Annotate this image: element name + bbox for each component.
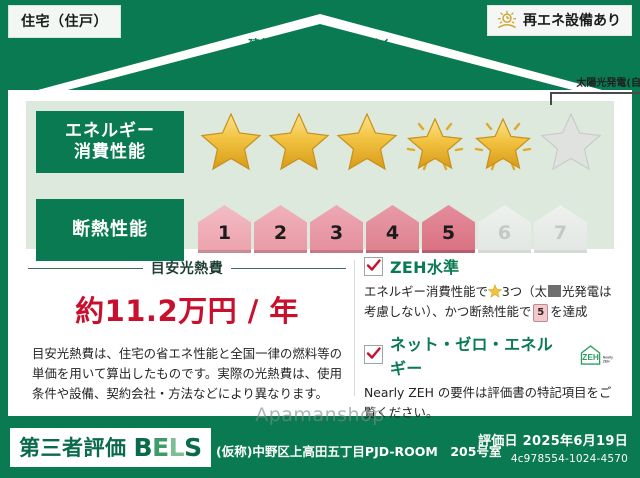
insulation-step-number: 1 — [218, 224, 231, 253]
net-zero-block: ネット・ゼロ・エネルギー ZEH Nearly ZEH Nearly ZEH の… — [364, 331, 614, 423]
energy-rating-row: エネルギー 消費性能 太陽光発電(自家消費)分 — [26, 111, 614, 173]
svg-text:ZEH: ZEH — [603, 359, 610, 363]
insulation-step: 1 — [198, 205, 251, 253]
net-zero-title: ネット・ゼロ・エネルギー — [390, 331, 568, 379]
insulation-rating-row: 断熱性能 1 2 3 4 — [26, 199, 614, 261]
insulation-scale: 1 2 3 4 5 — [198, 205, 587, 253]
evaluation-number: 4c978554-1024-4570 — [478, 453, 628, 465]
star-icon — [266, 109, 332, 173]
zeh-panel: ZEH水準 エネルギー消費性能で3つ（太光発電は考慮しない）、かつ断熱性能で5を… — [364, 254, 614, 402]
renewable-chip-label: 再エネ設備あり — [523, 10, 621, 30]
insulation-step-number: 7 — [554, 224, 567, 253]
zeh-standard-body: エネルギー消費性能で3つ（太光発電は考慮しない）、かつ断熱性能で5を達成 — [364, 282, 614, 322]
checkmark-icon — [364, 257, 383, 276]
bels-logo-en: BELS — [134, 433, 202, 462]
insulation-step-current: 5 — [422, 205, 475, 253]
star-icon-empty — [538, 109, 604, 173]
bels-logo-jp: 第三者評価 — [19, 432, 127, 462]
rule-right — [231, 268, 346, 269]
star-rating: 太陽光発電(自家消費)分 — [198, 109, 604, 173]
insulation-step-number: 6 — [498, 224, 511, 253]
rule-left — [28, 268, 143, 269]
star-icon-inline — [488, 284, 502, 298]
insulation-rating-label: 断熱性能 — [36, 199, 184, 261]
insulation-step-number: 3 — [330, 224, 343, 253]
utility-cost-heading-label: 目安光熱費 — [151, 258, 224, 278]
zeh-standard-heading: ZEH水準 — [364, 254, 614, 278]
svg-text:ZEH: ZEH — [583, 353, 600, 362]
star-icon-solar — [402, 109, 468, 173]
energy-rating-label: エネルギー 消費性能 — [36, 111, 184, 173]
renewable-equipment-chip: 再エネ設備あり — [487, 5, 632, 36]
evaluation-date: 評価日 2025年6月19日 — [478, 430, 628, 449]
category-chip: 住宅（住戸） — [8, 5, 121, 38]
utility-cost-note: 目安光熱費は、住宅の省エネ性能と全国一律の燃料等の単価を用いて算出したものです。… — [28, 344, 346, 404]
panel-divider — [354, 260, 355, 396]
zeh-body-text-1: エネルギー消費性能で — [364, 284, 488, 299]
star-icon — [198, 109, 264, 173]
insulation-step: 2 — [254, 205, 307, 253]
zeh-house-logo-icon: ZEH Nearly ZEH — [579, 343, 614, 367]
property-address: (仮称)中野区上高田五丁目PJD-ROOM 205号室 — [216, 441, 501, 460]
bels-logo: 第三者評価 BELS — [10, 428, 211, 467]
zeh-body-text-4: を達成 — [550, 304, 587, 319]
insulation-step-number: 4 — [386, 224, 399, 253]
energy-label-line1: エネルギー — [65, 121, 155, 142]
redaction-block — [548, 285, 561, 297]
insulation-step-empty: 6 — [478, 205, 531, 253]
utility-cost-panel: 目安光熱費 約11.2万円 / 年 目安光熱費は、住宅の省エネ性能と全国一律の燃… — [28, 256, 346, 402]
star-icon — [334, 109, 400, 173]
utility-cost-heading: 目安光熱費 — [28, 258, 346, 278]
star-icon-solar — [470, 109, 536, 173]
insulation-step-empty: 7 — [534, 205, 587, 253]
utility-cost-value: 約11.2万円 / 年 — [28, 288, 346, 330]
zeh-body-text-2: 3つ（太 — [502, 284, 547, 299]
evaluation-info: 評価日 2025年6月19日 4c978554-1024-4570 — [478, 430, 628, 465]
energy-performance-label: 住宅（住戸） 再エネ設備あり 建築物省エネ法に基づく 省エネ性能ラベル エネルギ… — [0, 0, 640, 478]
insulation-step: 3 — [310, 205, 363, 253]
title-block: 建築物省エネ法に基づく 省エネ性能ラベル — [0, 34, 640, 92]
zeh-standard-block: ZEH水準 エネルギー消費性能で3つ（太光発電は考慮しない）、かつ断熱性能で5を… — [364, 254, 614, 322]
checkmark-icon — [364, 345, 383, 364]
ratings-region: エネルギー 消費性能 太陽光発電(自家消費)分 — [26, 101, 614, 249]
solar-bracket-line — [550, 92, 640, 105]
insulation-step: 4 — [366, 205, 419, 253]
energy-label-line2: 消費性能 — [74, 142, 146, 163]
page-title: 省エネ性能ラベル — [0, 56, 640, 92]
label-card: エネルギー 消費性能 太陽光発電(自家消費)分 — [14, 96, 626, 408]
insulation-grade-badge: 5 — [533, 304, 548, 322]
zeh-standard-title: ZEH水準 — [390, 254, 459, 278]
net-zero-body: Nearly ZEH の要件は評価書の特記項目をご覧ください。 — [364, 383, 614, 423]
insulation-step-number: 2 — [274, 224, 287, 253]
insulation-step-number: 5 — [442, 224, 455, 253]
footer-bar: 第三者評価 BELS (仮称)中野区上高田五丁目PJD-ROOM 205号室 評… — [0, 420, 640, 478]
sun-icon — [496, 10, 518, 30]
net-zero-heading: ネット・ゼロ・エネルギー ZEH Nearly ZEH — [364, 331, 614, 379]
